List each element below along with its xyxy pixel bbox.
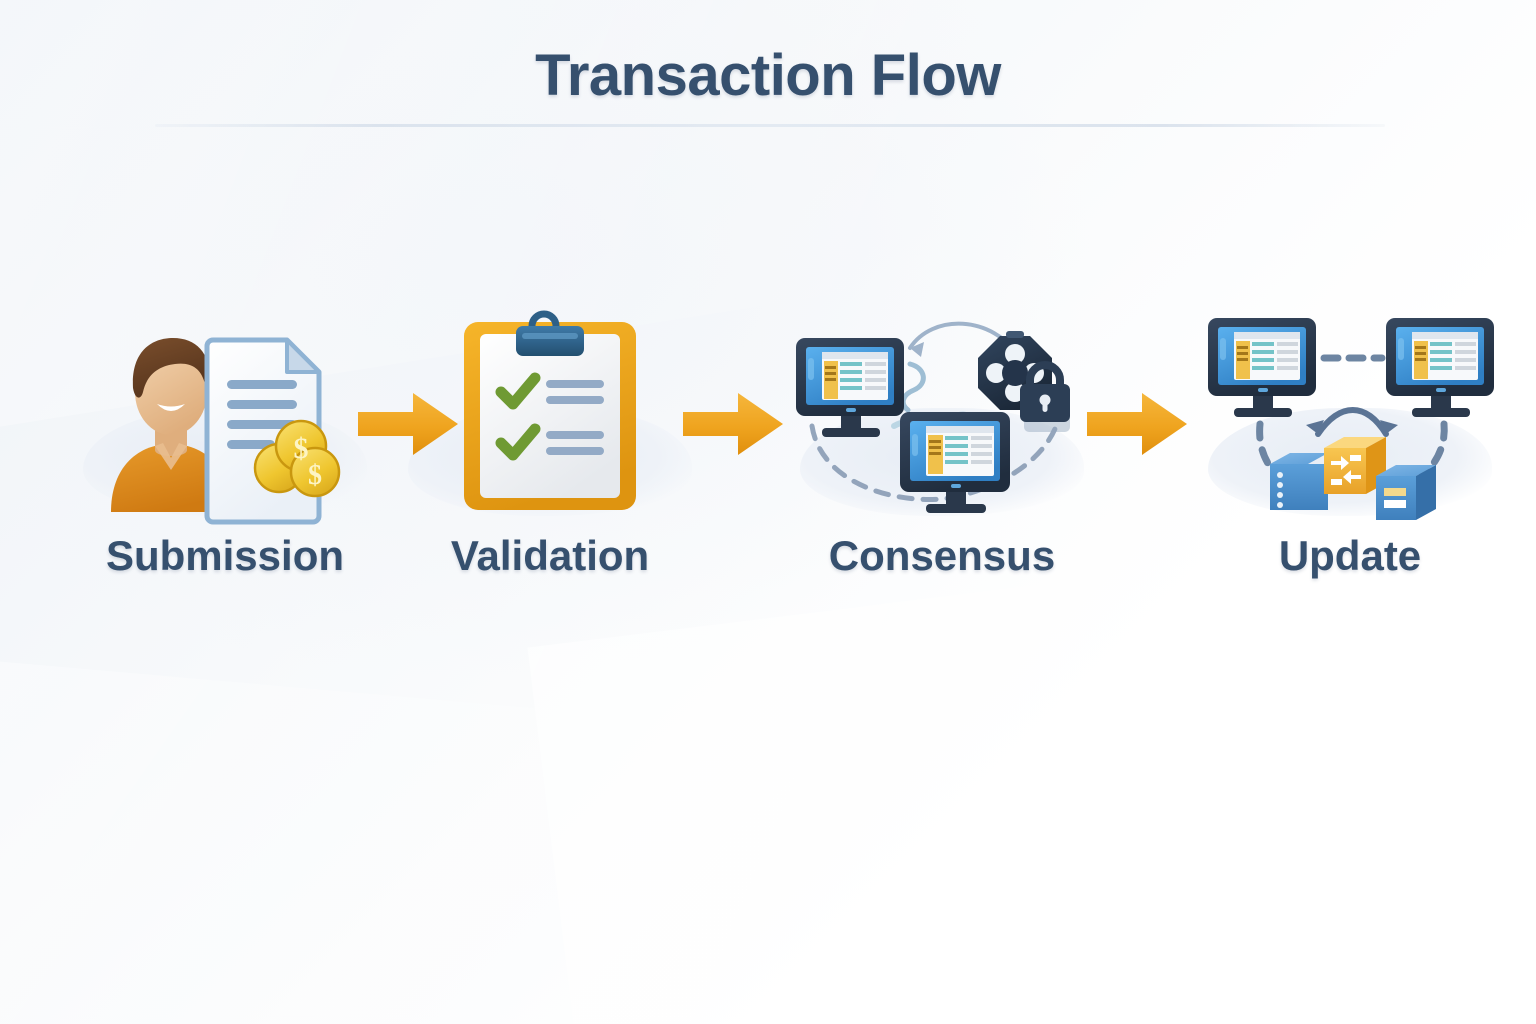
flow-step-label: Submission <box>75 532 375 580</box>
flow-step-label: Consensus <box>792 532 1092 580</box>
monitors-syncing-to-blocks-icon <box>1200 300 1500 520</box>
flow-step-submission[interactable]: $ $ Submission <box>75 300 375 630</box>
flow-connector-arrow <box>1087 393 1187 455</box>
title-divider <box>155 124 1385 127</box>
user-with-invoice-and-coins-icon: $ $ <box>75 300 375 520</box>
page-title: Transaction Flow <box>0 42 1536 109</box>
background-streak <box>0 653 996 1024</box>
svg-text:$: $ <box>294 432 309 465</box>
flow-step-label: Validation <box>400 532 700 580</box>
diagram-canvas: Transaction Flow <box>0 0 1536 1024</box>
flow-connector-arrow <box>358 393 458 455</box>
flow-connector-arrow <box>683 393 783 455</box>
transaction-flow-row: $ $ Submission <box>0 300 1536 630</box>
flow-step-label: Update <box>1200 532 1500 580</box>
flow-step-consensus[interactable]: Consensus <box>792 300 1092 630</box>
svg-text:$: $ <box>308 460 322 491</box>
flow-step-update[interactable]: Update <box>1200 300 1500 630</box>
networked-monitors-with-node-and-lock-icon <box>792 300 1092 520</box>
flow-step-validation[interactable]: Validation <box>400 300 700 630</box>
